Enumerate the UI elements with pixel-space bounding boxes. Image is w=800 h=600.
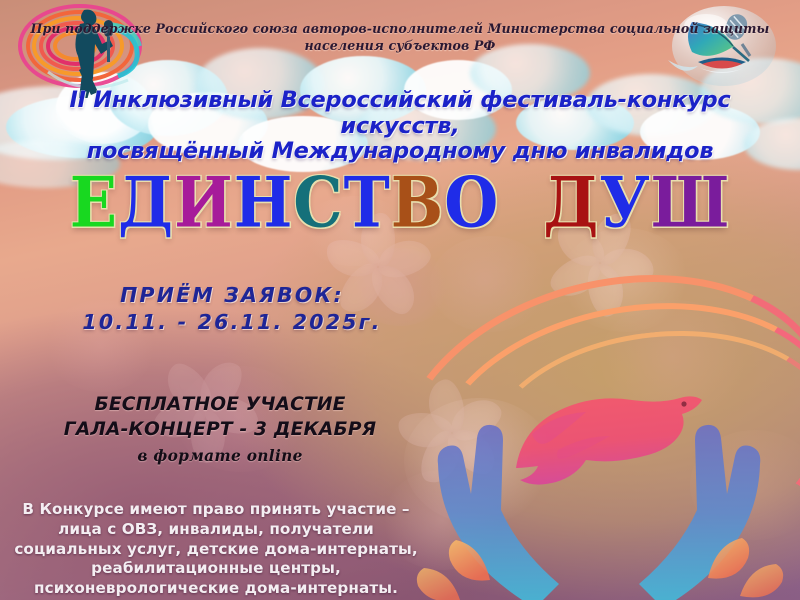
eligibility-text: В Конкурсе имеют право принять участие –… [6,500,426,599]
title-letter: Ш [651,168,731,237]
festival-title: II Инклюзивный Всероссийский фестиваль-к… [0,88,800,165]
title-letter: В [391,168,444,237]
poster-canvas: При поддержке Российского союза авторов-… [0,0,800,600]
dove-icon [516,396,702,484]
festival-name-heading: ЕДИНСТВОДУШ [0,172,800,234]
title-letter: С [293,168,343,237]
title-letter: Н [234,168,294,237]
title-letter: И [174,168,234,237]
title-letter: Т [344,168,391,237]
title-letter: Д [118,168,174,237]
title-letter: О [444,168,499,237]
support-credits-text: При поддержке Российского союза авторов-… [0,20,800,55]
title-letter: Д [543,168,599,237]
hands-and-dove-graphic [398,372,800,600]
application-deadline: ПРИЁМ ЗАЯВОК: 10.11. - 26.11. 2025г. [52,282,412,337]
free-participation-info: БЕСПЛАТНОЕ УЧАСТИЕ ГАЛА-КОНЦЕРТ - 3 ДЕКА… [40,392,400,443]
title-letter: У [599,168,650,237]
online-format-note: в формате online [40,447,400,465]
title-letter: Е [70,168,118,237]
